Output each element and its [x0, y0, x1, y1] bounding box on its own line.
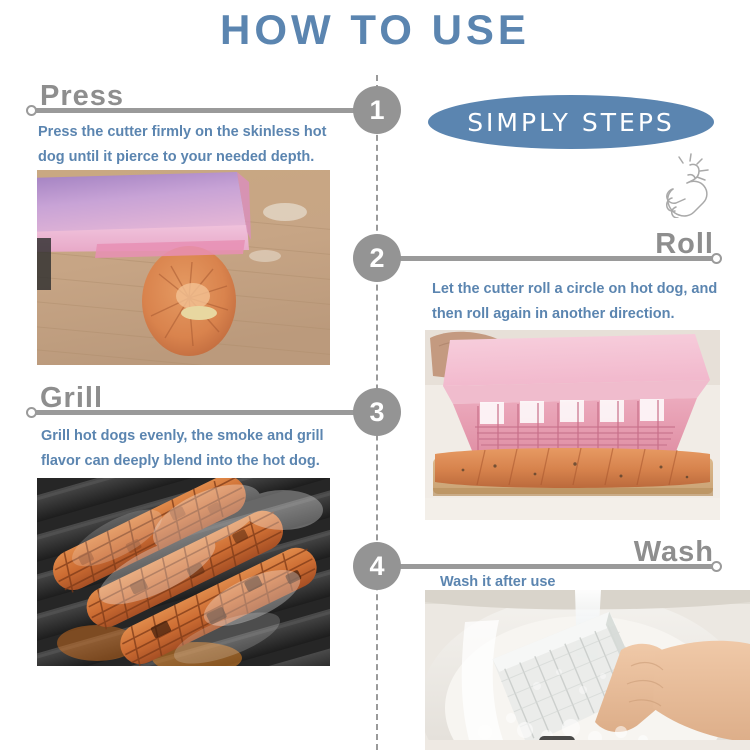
step-2-number-badge: 2	[353, 234, 401, 282]
step-1-rule-endpoint-dot	[26, 105, 37, 116]
step-3-rule-endpoint-dot	[26, 407, 37, 418]
infographic-canvas: HOW TO USE 1 Press Press the cutter firm…	[0, 0, 750, 750]
step-1-photo-press	[37, 170, 330, 365]
step-1-rule	[33, 108, 363, 113]
step-3-number-badge: 3	[353, 388, 401, 436]
snapping-fingers-hand-icon	[650, 152, 716, 218]
step-1-number-badge: 1	[353, 86, 401, 134]
simply-steps-badge-label: SIMPLY STEPS	[467, 108, 675, 137]
step-2-rule	[398, 256, 716, 261]
roll-photo-illustration	[425, 330, 720, 520]
snapping-fingers-hand-glyph	[650, 152, 716, 218]
step-4-heading: Wash	[634, 538, 714, 567]
press-photo-illustration	[37, 170, 330, 365]
step-3-body-text: Grill hot dogs evenly, the smoke and gri…	[41, 424, 341, 474]
step-4-rule-endpoint-dot	[711, 561, 722, 572]
step-2-body-text: Let the cutter roll a circle on hot dog,…	[432, 277, 732, 327]
step-4-rule	[398, 564, 716, 569]
step-3-photo-grill	[37, 478, 330, 666]
step-2-photo-roll	[425, 330, 720, 520]
step-1-body-text: Press the cutter firmly on the skinless …	[38, 120, 338, 170]
step-2-heading: Roll	[655, 230, 714, 259]
step-2-rule-endpoint-dot	[711, 253, 722, 264]
grill-photo-illustration	[37, 478, 330, 666]
step-4-number-badge: 4	[353, 542, 401, 590]
step-3-rule	[33, 410, 363, 415]
wash-photo-illustration	[425, 590, 750, 750]
step-4-photo-wash	[425, 590, 750, 750]
simply-steps-badge: SIMPLY STEPS	[428, 95, 714, 149]
step-3-heading: Grill	[40, 384, 103, 413]
step-1-heading: Press	[40, 82, 124, 111]
page-title: HOW TO USE	[0, 6, 750, 54]
